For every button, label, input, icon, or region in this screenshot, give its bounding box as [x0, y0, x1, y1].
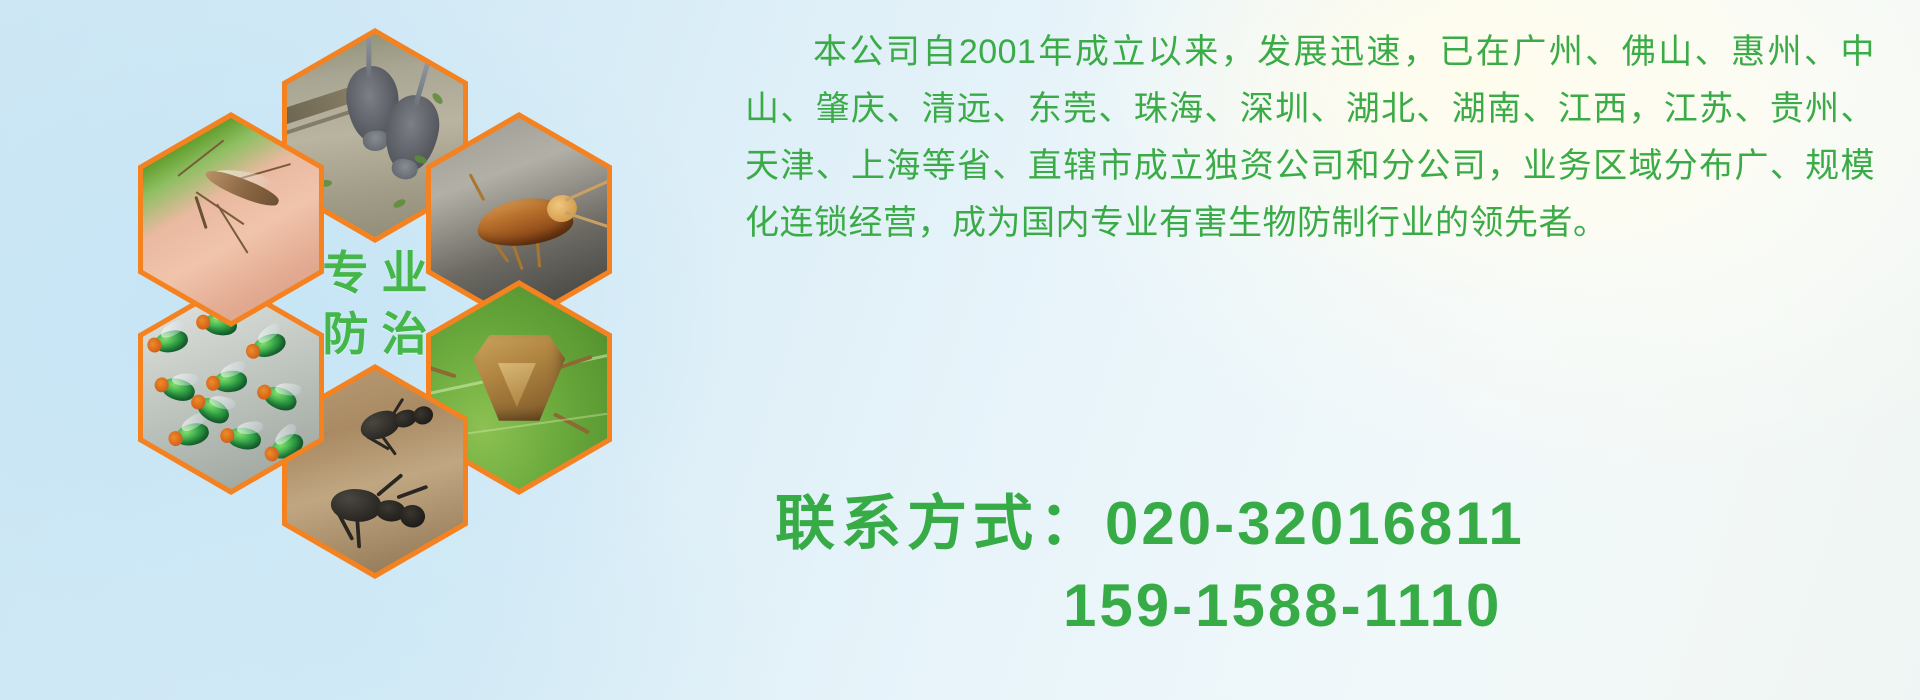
fly-icon	[226, 425, 263, 452]
mosquito-proboscis-icon	[195, 196, 208, 229]
company-intro-paragraph: 本公司自2001年成立以来，发展迅速，已在广州、佛山、惠州、中山、肇庆、清远、东…	[745, 24, 1875, 252]
intro-text-column: 本公司自2001年成立以来，发展迅速，已在广州、佛山、惠州、中山、肇庆、清远、东…	[745, 24, 1875, 252]
fly-icon	[260, 382, 299, 414]
insect-leg-icon	[553, 412, 590, 434]
contact-secondary-line: 159-1588-1110	[775, 565, 1875, 647]
contact-phone-primary[interactable]: 020-32016811	[1105, 490, 1525, 557]
insect-leg-icon	[468, 173, 485, 201]
contact-block: 联系方式：020-32016811 159-1588-1110	[775, 483, 1875, 647]
fly-icon	[212, 370, 248, 394]
contact-label: 联系方式：	[775, 490, 1105, 557]
center-label-line-2: 防治	[310, 307, 441, 361]
insect-leg-icon	[216, 204, 248, 254]
center-label-line-1: 专业	[310, 246, 441, 300]
contact-phone-secondary[interactable]: 159-1588-1110	[1063, 572, 1502, 639]
antenna-icon	[564, 176, 607, 202]
pest-control-banner: 专业 防治 本公司自2001年成立以来，发展迅速，已在广州、佛山、惠州、中山、肇…	[0, 0, 1920, 700]
fly-icon	[173, 420, 211, 449]
fly-icon	[152, 327, 190, 355]
contact-primary-line: 联系方式：020-32016811	[775, 483, 1875, 565]
hexagon-photo-cluster: 专业 防治	[96, 10, 656, 670]
